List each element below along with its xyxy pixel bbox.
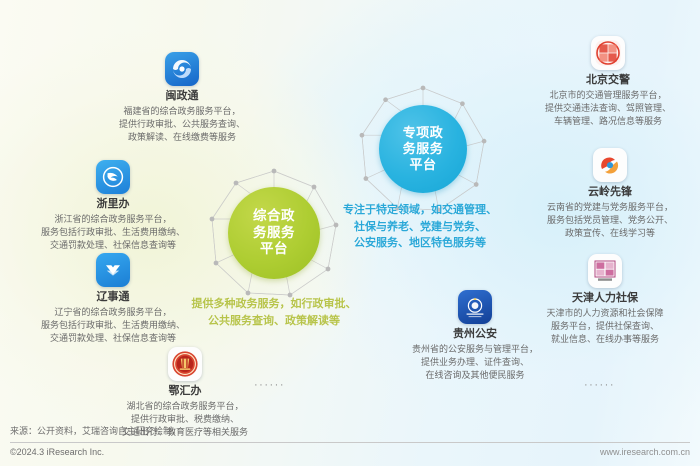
- app-card-minzhengtong[interactable]: 闽政通 福建省的综合政务服务平台， 提供行政审批、公共服务查询、 政策解读、在线…: [96, 52, 268, 144]
- app-desc-line-3: 政策解读、在线缴费等服务: [96, 131, 268, 144]
- app-card-yunling-xianfeng[interactable]: 云岭先锋 云南省的党建与党务服务平台， 服务包括党员管理、党务公开、 政策宣传、…: [520, 148, 700, 240]
- hub-comprehensive-line-1: 综合政: [253, 208, 295, 224]
- ellipsis-left: ······: [254, 379, 285, 391]
- caption-specialized-line-1: 专注于特定领域，如交通管理、: [322, 202, 518, 219]
- yunling-xianfeng-icon: [593, 148, 627, 182]
- app-desc: 贵州省的公安服务与管理平台， 提供业务办理、证件查询、 在线咨询及其他便民服务: [380, 343, 570, 382]
- app-card-guizhou-police[interactable]: 贵州公安 贵州省的公安服务与管理平台， 提供业务办理、证件查询、 在线咨询及其他…: [380, 290, 570, 382]
- hub-specialized-platform[interactable]: 专项政 务服务 平台: [379, 105, 467, 193]
- app-name: 贵州公安: [380, 327, 570, 342]
- footer-divider: [10, 442, 690, 443]
- app-desc-line-3: 在线咨询及其他便民服务: [380, 369, 570, 382]
- app-desc-line-2: 提供交通违法查询、驾照管理、: [516, 102, 700, 115]
- app-desc: 浙江省的综合政务服务平台， 服务包括行政审批、生活费用缴纳、 交通罚款处理、社保…: [20, 213, 206, 252]
- beijing-traffic-police-icon: [591, 36, 625, 70]
- app-desc-line-1: 辽宁省的综合政务服务平台，: [20, 306, 206, 319]
- app-desc-line-1: 北京市的交通管理服务平台，: [516, 89, 700, 102]
- hub-specialized-line-2: 务服务: [403, 141, 444, 157]
- hub-comprehensive-platform[interactable]: 综合政 务服务 平台: [228, 187, 320, 279]
- app-name: 辽事通: [20, 290, 206, 305]
- ehuiban-icon: [168, 347, 202, 381]
- app-desc-line-1: 福建省的综合政务服务平台，: [96, 105, 268, 118]
- app-name: 云岭先锋: [520, 185, 700, 200]
- hub-comprehensive-line-3: 平台: [253, 241, 295, 257]
- minzhengtong-icon: [165, 52, 199, 86]
- app-desc-line-3: 政策宣传、在线学习等: [520, 227, 700, 240]
- source-note: 来源：公开资料，艾瑞咨询自主研究绘制。: [10, 424, 181, 437]
- app-card-beijing-traffic-police[interactable]: 北京交警 北京市的交通管理服务平台， 提供交通违法查询、驾照管理、 车辆管理、路…: [516, 36, 700, 128]
- app-name: 浙里办: [20, 197, 206, 212]
- app-name: 闽政通: [96, 89, 268, 104]
- caption-specialized-line-2: 社保与养老、党建与党务、: [322, 219, 518, 236]
- app-name: 北京交警: [516, 73, 700, 88]
- app-desc-line-1: 湖北省的综合政务服务平台，: [88, 400, 282, 413]
- app-desc-line-2: 提供行政审批、公共服务查询、: [96, 118, 268, 131]
- app-desc-line-1: 贵州省的公安服务与管理平台，: [380, 343, 570, 356]
- hub-comprehensive-line-2: 务服务: [253, 225, 295, 241]
- tianjin-hrss-icon: [588, 254, 622, 288]
- caption-specialized-platform: 专注于特定领域，如交通管理、 社保与养老、党建与党务、 公安服务、地区特色服务等: [322, 202, 518, 252]
- app-card-zheliban[interactable]: 浙里办 浙江省的综合政务服务平台， 服务包括行政审批、生活费用缴纳、 交通罚款处…: [20, 160, 206, 252]
- app-desc-line-2: 服务包括党员管理、党务公开、: [520, 214, 700, 227]
- app-desc-line-2: 服务包括行政审批、生活费用缴纳、: [20, 226, 206, 239]
- hub-specialized-line-3: 平台: [403, 157, 444, 173]
- app-desc-line-1: 浙江省的综合政务服务平台，: [20, 213, 206, 226]
- app-desc-line-2: 服务包括行政审批、生活费用缴纳、: [20, 319, 206, 332]
- copyright-text: ©2024.3 iResearch Inc.: [10, 447, 104, 457]
- app-desc-line-2: 提供业务办理、证件查询、: [380, 356, 570, 369]
- app-desc: 北京市的交通管理服务平台， 提供交通违法查询、驾照管理、 车辆管理、路况信息等服…: [516, 89, 700, 128]
- zheliban-icon: [96, 160, 130, 194]
- website-url: www.iresearch.com.cn: [600, 447, 690, 457]
- hub-specialized-line-1: 专项政: [403, 125, 444, 141]
- app-desc-line-3: 车辆管理、路况信息等服务: [516, 115, 700, 128]
- caption-specialized-line-3: 公安服务、地区特色服务等: [322, 235, 518, 252]
- app-desc-line-3: 交通罚款处理、社保信息查询等: [20, 239, 206, 252]
- app-desc-line-3: 交通罚款处理、社保信息查询等: [20, 332, 206, 345]
- app-name: 鄂汇办: [88, 384, 282, 399]
- infographic-canvas: 综合政 务服务 平台 专项政 务服务 平台 提供多种政务服务，如行政审批、 公共…: [0, 0, 700, 466]
- guizhou-police-icon: [458, 290, 492, 324]
- ellipsis-right: ······: [584, 379, 615, 391]
- app-desc: 福建省的综合政务服务平台， 提供行政审批、公共服务查询、 政策解读、在线缴费等服…: [96, 105, 268, 144]
- liaoshitong-icon: [96, 253, 130, 287]
- app-card-liaoshitong[interactable]: 辽事通 辽宁省的综合政务服务平台， 服务包括行政审批、生活费用缴纳、 交通罚款处…: [20, 253, 206, 345]
- app-desc: 云南省的党建与党务服务平台， 服务包括党员管理、党务公开、 政策宣传、在线学习等: [520, 201, 700, 240]
- app-desc: 辽宁省的综合政务服务平台， 服务包括行政审批、生活费用缴纳、 交通罚款处理、社保…: [20, 306, 206, 345]
- app-desc-line-1: 云南省的党建与党务服务平台，: [520, 201, 700, 214]
